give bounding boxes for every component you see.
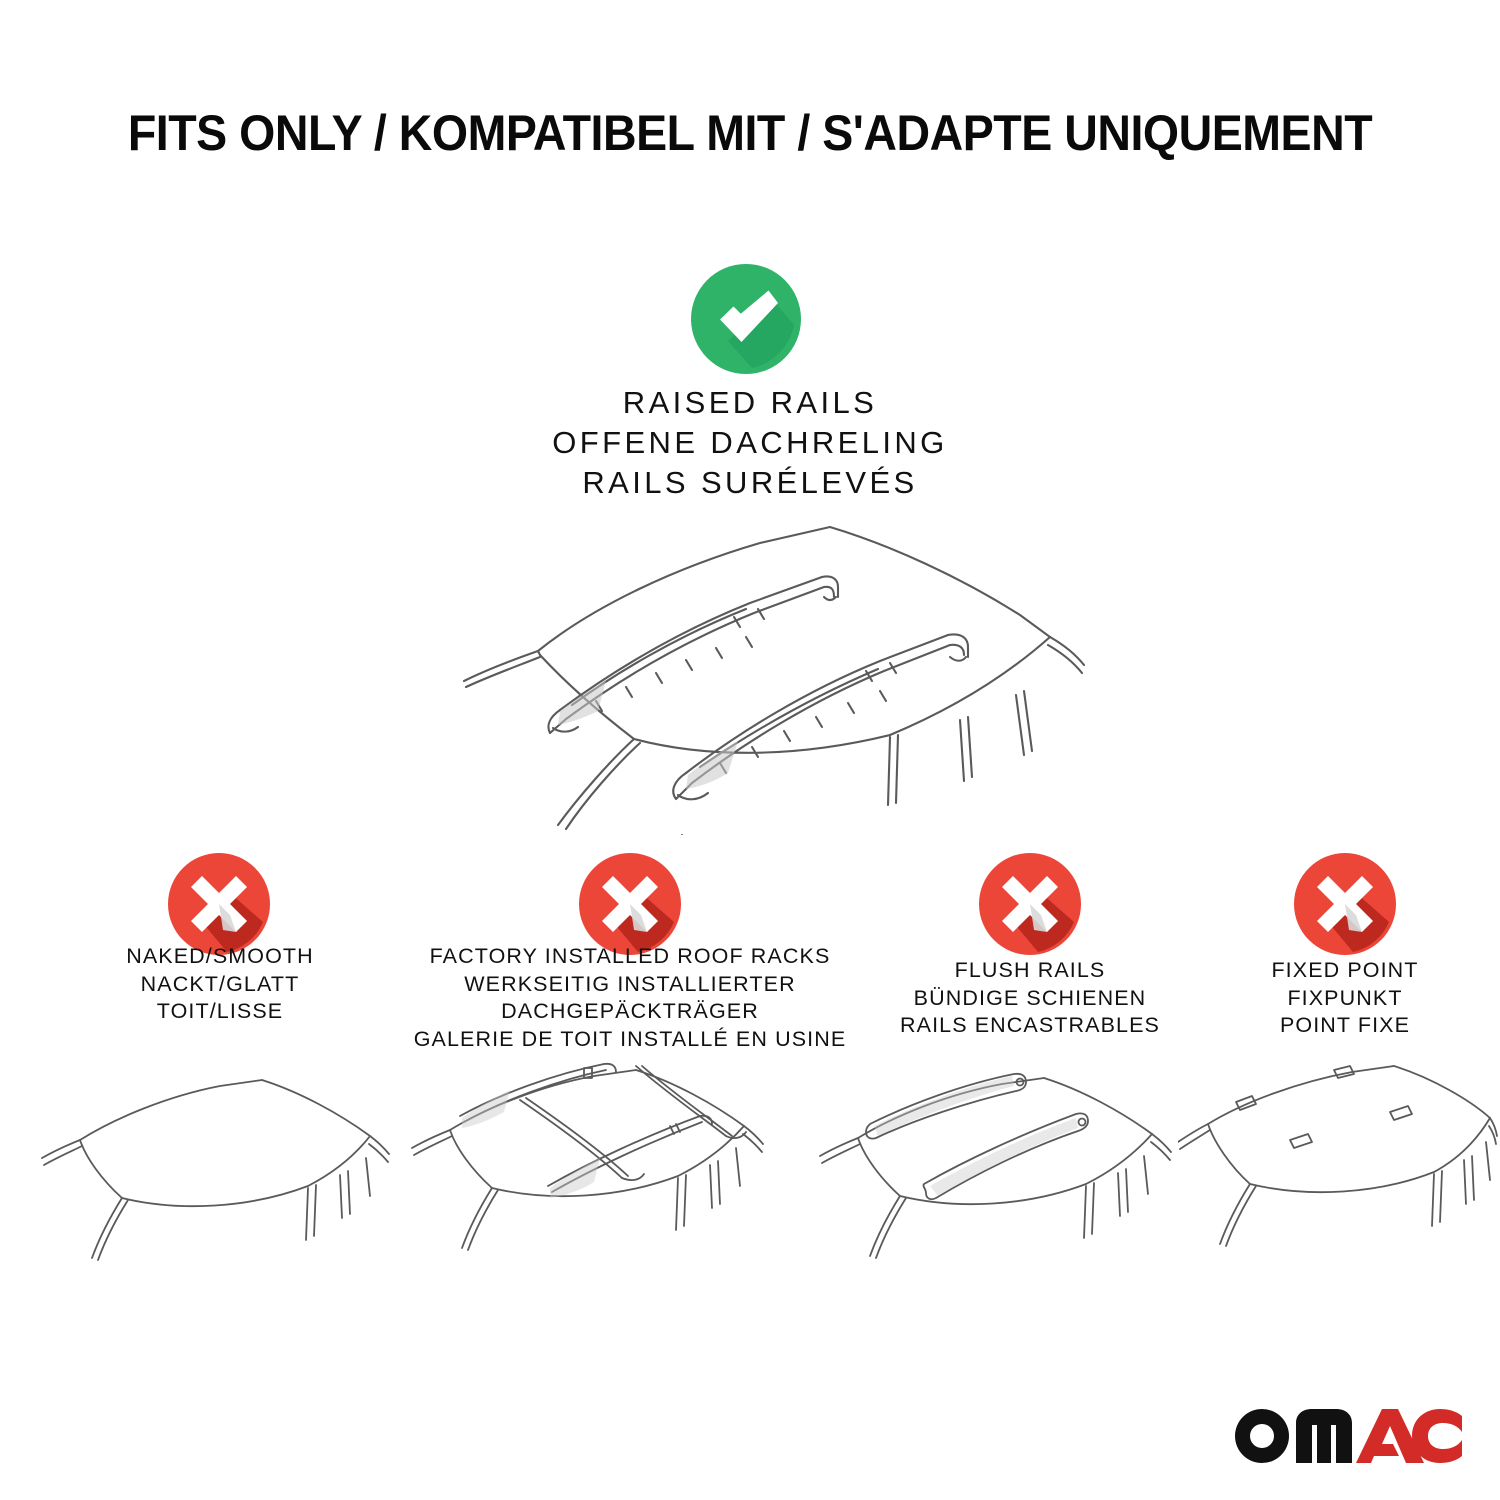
label-naked-smooth-fr: TOIT/LISSE [45, 998, 395, 1026]
label-factory-rack-de1: WERKSEITIG INSTALLIERTER [400, 971, 860, 999]
omac-logo [1230, 1398, 1462, 1464]
car-roof-naked-illustration [40, 1062, 410, 1292]
car-roof-fixed-point-illustration [1178, 1058, 1498, 1293]
label-naked-smooth-de: NACKT/GLATT [45, 971, 395, 999]
check-icon [690, 263, 802, 375]
compatible-label-fr: RAILS SURÉLEVÉS [430, 463, 1070, 503]
label-naked-smooth: NAKED/SMOOTH NACKT/GLATT TOIT/LISSE [45, 943, 395, 1026]
label-flush-rails-en: FLUSH RAILS [855, 957, 1205, 985]
label-fixed-point: FIXED POINT FIXPUNKT POINT FIXE [1200, 957, 1490, 1040]
cross-icon-naked [167, 852, 271, 956]
cross-icon-flush-rails [978, 852, 1082, 956]
label-fixed-point-fr: POINT FIXE [1200, 1012, 1490, 1040]
label-factory-rack: FACTORY INSTALLED ROOF RACKS WERKSEITIG … [400, 943, 860, 1053]
car-roof-raised-rails-illustration [420, 505, 1100, 835]
compatible-label: RAISED RAILS OFFENE DACHRELING RAILS SUR… [430, 383, 1070, 503]
label-factory-rack-en: FACTORY INSTALLED ROOF RACKS [400, 943, 860, 971]
compatible-label-en: RAISED RAILS [430, 383, 1070, 423]
label-flush-rails-de: BÜNDIGE SCHIENEN [855, 985, 1205, 1013]
label-naked-smooth-en: NAKED/SMOOTH [45, 943, 395, 971]
car-roof-factory-rack-illustration [408, 1058, 788, 1293]
label-fixed-point-de: FIXPUNKT [1200, 985, 1490, 1013]
cross-icon-factory-rack [578, 852, 682, 956]
compatible-label-de: OFFENE DACHRELING [430, 423, 1070, 463]
label-fixed-point-en: FIXED POINT [1200, 957, 1490, 985]
label-flush-rails-fr: RAILS ENCASTRABLES [855, 1012, 1205, 1040]
compatibility-infographic: FITS ONLY / KOMPATIBEL MIT / S'ADAPTE UN… [0, 0, 1500, 1500]
label-factory-rack-de2: DACHGEPÄCKTRÄGER [400, 998, 860, 1026]
car-roof-flush-rails-illustration [818, 1062, 1190, 1292]
label-flush-rails: FLUSH RAILS BÜNDIGE SCHIENEN RAILS ENCAS… [855, 957, 1205, 1040]
page-title: FITS ONLY / KOMPATIBEL MIT / S'ADAPTE UN… [53, 104, 1448, 162]
cross-icon-fixed-point [1293, 852, 1397, 956]
label-factory-rack-fr: GALERIE DE TOIT INSTALLÉ EN USINE [400, 1026, 860, 1054]
